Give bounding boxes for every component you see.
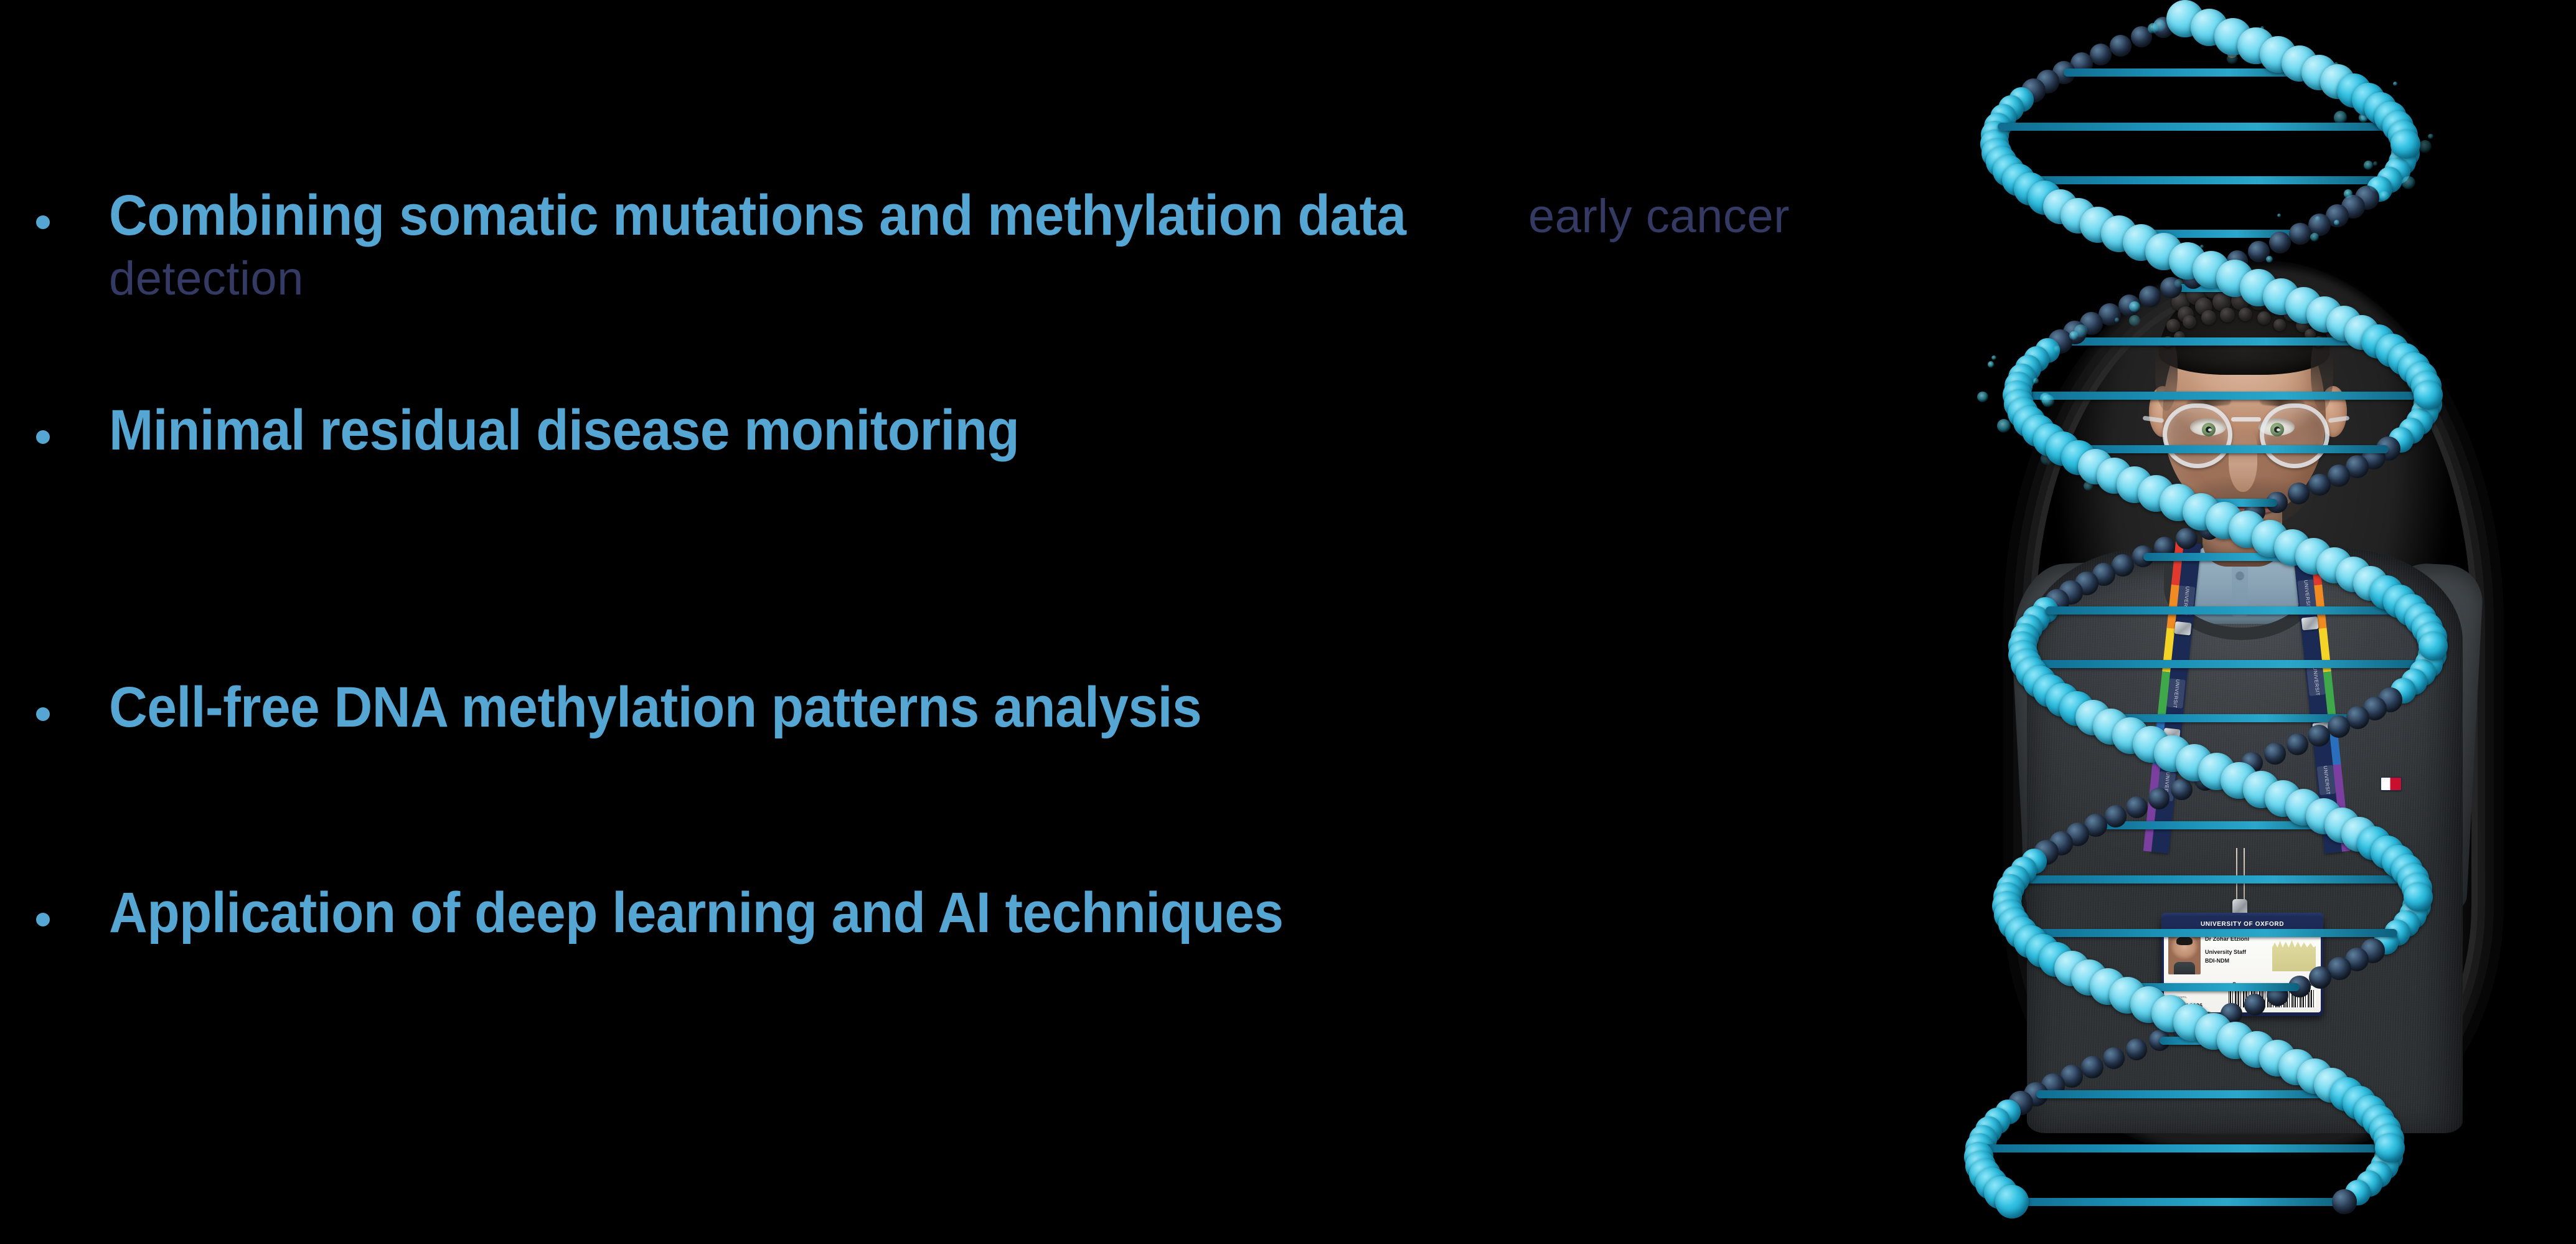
slide-canvas: Combining somatic mutations and methylat…: [0, 0, 2576, 1244]
bullet-dot-icon: [36, 430, 50, 444]
dna-base-pair-rung: [2060, 337, 2378, 346]
dna-nucleotide-node: [2288, 483, 2310, 504]
dna-particle-spray: [2148, 23, 2158, 34]
dna-particle-spray: [2040, 393, 2050, 403]
dna-particle-spray: [2428, 134, 2433, 139]
dna-nucleotide-node: [2308, 725, 2329, 747]
dna-base-pair-rung: [2046, 606, 2412, 615]
dna-particle-spray: [1988, 361, 1994, 367]
dna-particle-spray: [1997, 419, 2011, 433]
dna-nucleotide-node: [2081, 1056, 2104, 1078]
dna-nucleotide-node: [2390, 130, 2420, 159]
dna-particle-spray: [2364, 161, 2373, 170]
dna-base-pair-rung: [2018, 392, 2428, 400]
dna-particle-spray: [2115, 318, 2120, 323]
dna-base-pair-rung: [1980, 1144, 2390, 1152]
dna-base-pair-rung: [2016, 875, 2413, 884]
dna-nucleotide-node: [2105, 805, 2127, 827]
bullet-text-primary: Cell-free DNA methylation patterns analy…: [109, 679, 1201, 736]
dna-nucleotide-node: [2126, 1039, 2148, 1060]
dna-nucleotide-node: [2171, 779, 2192, 800]
dna-particle-spray: [2054, 346, 2061, 352]
bullet-accent-continuation: detection: [109, 255, 304, 303]
dna-base-pair-rung: [2021, 929, 2397, 937]
bullet-list: Combining somatic mutations and methylat…: [0, 0, 1805, 1244]
dna-particle-spray: [2266, 256, 2273, 263]
dna-particle-spray: [1991, 356, 1996, 360]
bullet-dot-icon: [36, 215, 50, 229]
bullet-dot-icon: [36, 913, 50, 926]
dna-particle-spray: [2393, 82, 2397, 86]
dna-nucleotide-node: [2328, 957, 2351, 980]
dna-base-pair-rung: [2036, 1090, 2347, 1098]
dna-base-pair-rung: [2026, 660, 2429, 668]
dna-nucleotide-node: [2375, 1133, 2405, 1163]
dna-nucleotide-node: [2244, 994, 2265, 1015]
bullet-text-primary: Minimal residual disease monitoring: [109, 402, 1019, 459]
bullet-text-primary: Application of deep learning and AI tech…: [109, 884, 1283, 941]
dna-particle-spray: [2369, 178, 2382, 191]
dna-particle-spray: [1977, 392, 1988, 403]
dna-particle-spray: [2315, 216, 2320, 221]
dna-nucleotide-node: [2287, 733, 2308, 755]
dna-nucleotide-node: [2264, 743, 2285, 764]
bullet-accent-trailing: early cancer: [1528, 193, 1790, 240]
dna-nucleotide-node: [2308, 474, 2330, 496]
dna-nucleotide-node: [2148, 788, 2170, 809]
dna-nucleotide-node: [2332, 1189, 2356, 1213]
dna-particle-spray: [2129, 301, 2140, 312]
dna-particle-spray: [2373, 161, 2377, 166]
dna-base-pair-rung: [1998, 123, 2398, 131]
dna-particle-spray: [2174, 279, 2183, 287]
dna-nucleotide-node: [2176, 528, 2197, 549]
dna-nucleotide-node: [2110, 35, 2132, 57]
dna-base-pair-rung: [2018, 176, 2389, 184]
dna-nucleotide-node: [2269, 232, 2291, 253]
dna-particle-spray: [2334, 220, 2339, 225]
dna-particle-spray: [2033, 378, 2039, 384]
bullet-dot-icon: [36, 707, 50, 721]
dna-particle-spray: [2402, 176, 2415, 189]
dna-nucleotide-node: [2139, 286, 2161, 308]
figure-dna-portrait-composite: UNIVERSITY OF OXFORD UNIVERSITY OF OXFOR…: [1830, 0, 2576, 1220]
dna-nucleotide-node: [2414, 380, 2443, 410]
dna-nucleotide-node: [2090, 44, 2112, 65]
dna-nucleotide-node: [2289, 223, 2311, 245]
dna-base-pair-rung: [2012, 1198, 2344, 1206]
dna-base-pair-rung: [2063, 445, 2389, 453]
bullet-text-primary: Combining somatic mutations and methylat…: [109, 187, 1406, 244]
dna-nucleotide-node: [2126, 796, 2148, 818]
dna-nucleotide-node: [2103, 1047, 2125, 1069]
dna-particle-spray: [2379, 191, 2389, 200]
dna-nucleotide-node: [1995, 1185, 2029, 1219]
